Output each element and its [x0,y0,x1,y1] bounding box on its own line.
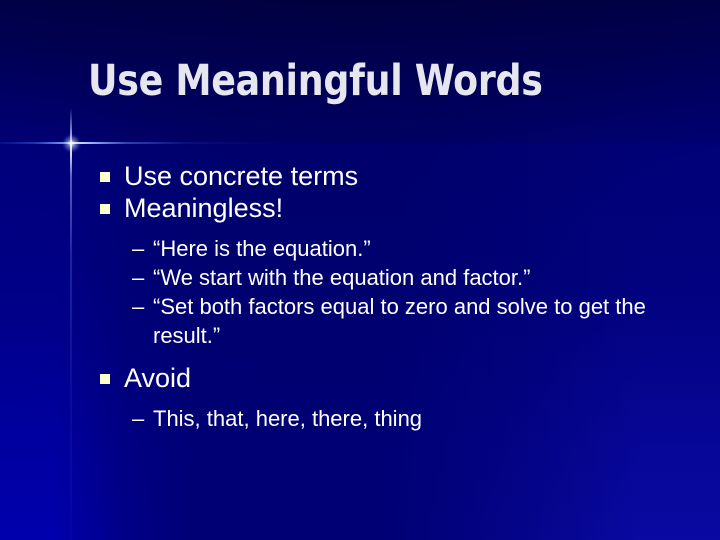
sub-bullet-text: This, that, here, there, thing [153,406,422,431]
bullet-text: Use concrete terms [124,161,358,191]
bullet-text: Avoid [124,363,191,393]
dash-bullet-icon: – [132,234,144,263]
sub-bullet-text: “Here is the equation.” [153,236,371,261]
sub-bullet-group: – “Here is the equation.” – “We start wi… [98,234,698,350]
sub-bullet-item: – This, that, here, there, thing [98,404,698,433]
bullet-item: Avoid [98,362,698,394]
bullet-square-icon [100,172,110,182]
spacer [98,224,698,232]
sub-bullet-text: “Set both factors equal to zero and solv… [153,294,646,348]
bullet-item: Meaningless! [98,192,698,224]
sub-bullet-item: – “Here is the equation.” [98,234,698,263]
sub-bullet-text: “We start with the equation and factor.” [153,265,530,290]
dash-bullet-icon: – [132,263,144,292]
dash-bullet-icon: – [132,404,144,433]
slide-title: Use Meaningful Words [88,56,614,106]
spacer [98,394,698,402]
bullet-text: Meaningless! [124,193,283,223]
sparkle-horizontal-ray-icon [0,142,300,144]
sub-bullet-group: – This, that, here, there, thing [98,404,698,433]
presentation-slide: Use Meaningful Words Use concrete terms … [0,0,720,540]
sub-bullet-item: – “Set both factors equal to zero and so… [98,292,698,350]
slide-body: Use concrete terms Meaningless! – “Here … [98,160,698,433]
dash-bullet-icon: – [132,292,144,321]
sub-bullet-item: – “We start with the equation and factor… [98,263,698,292]
sparkle-vertical-ray-icon [70,108,72,540]
bullet-square-icon [100,374,110,384]
bullet-square-icon [100,204,110,214]
spacer [98,350,698,362]
sparkle-center-icon [62,134,81,153]
bullet-item: Use concrete terms [98,160,698,192]
